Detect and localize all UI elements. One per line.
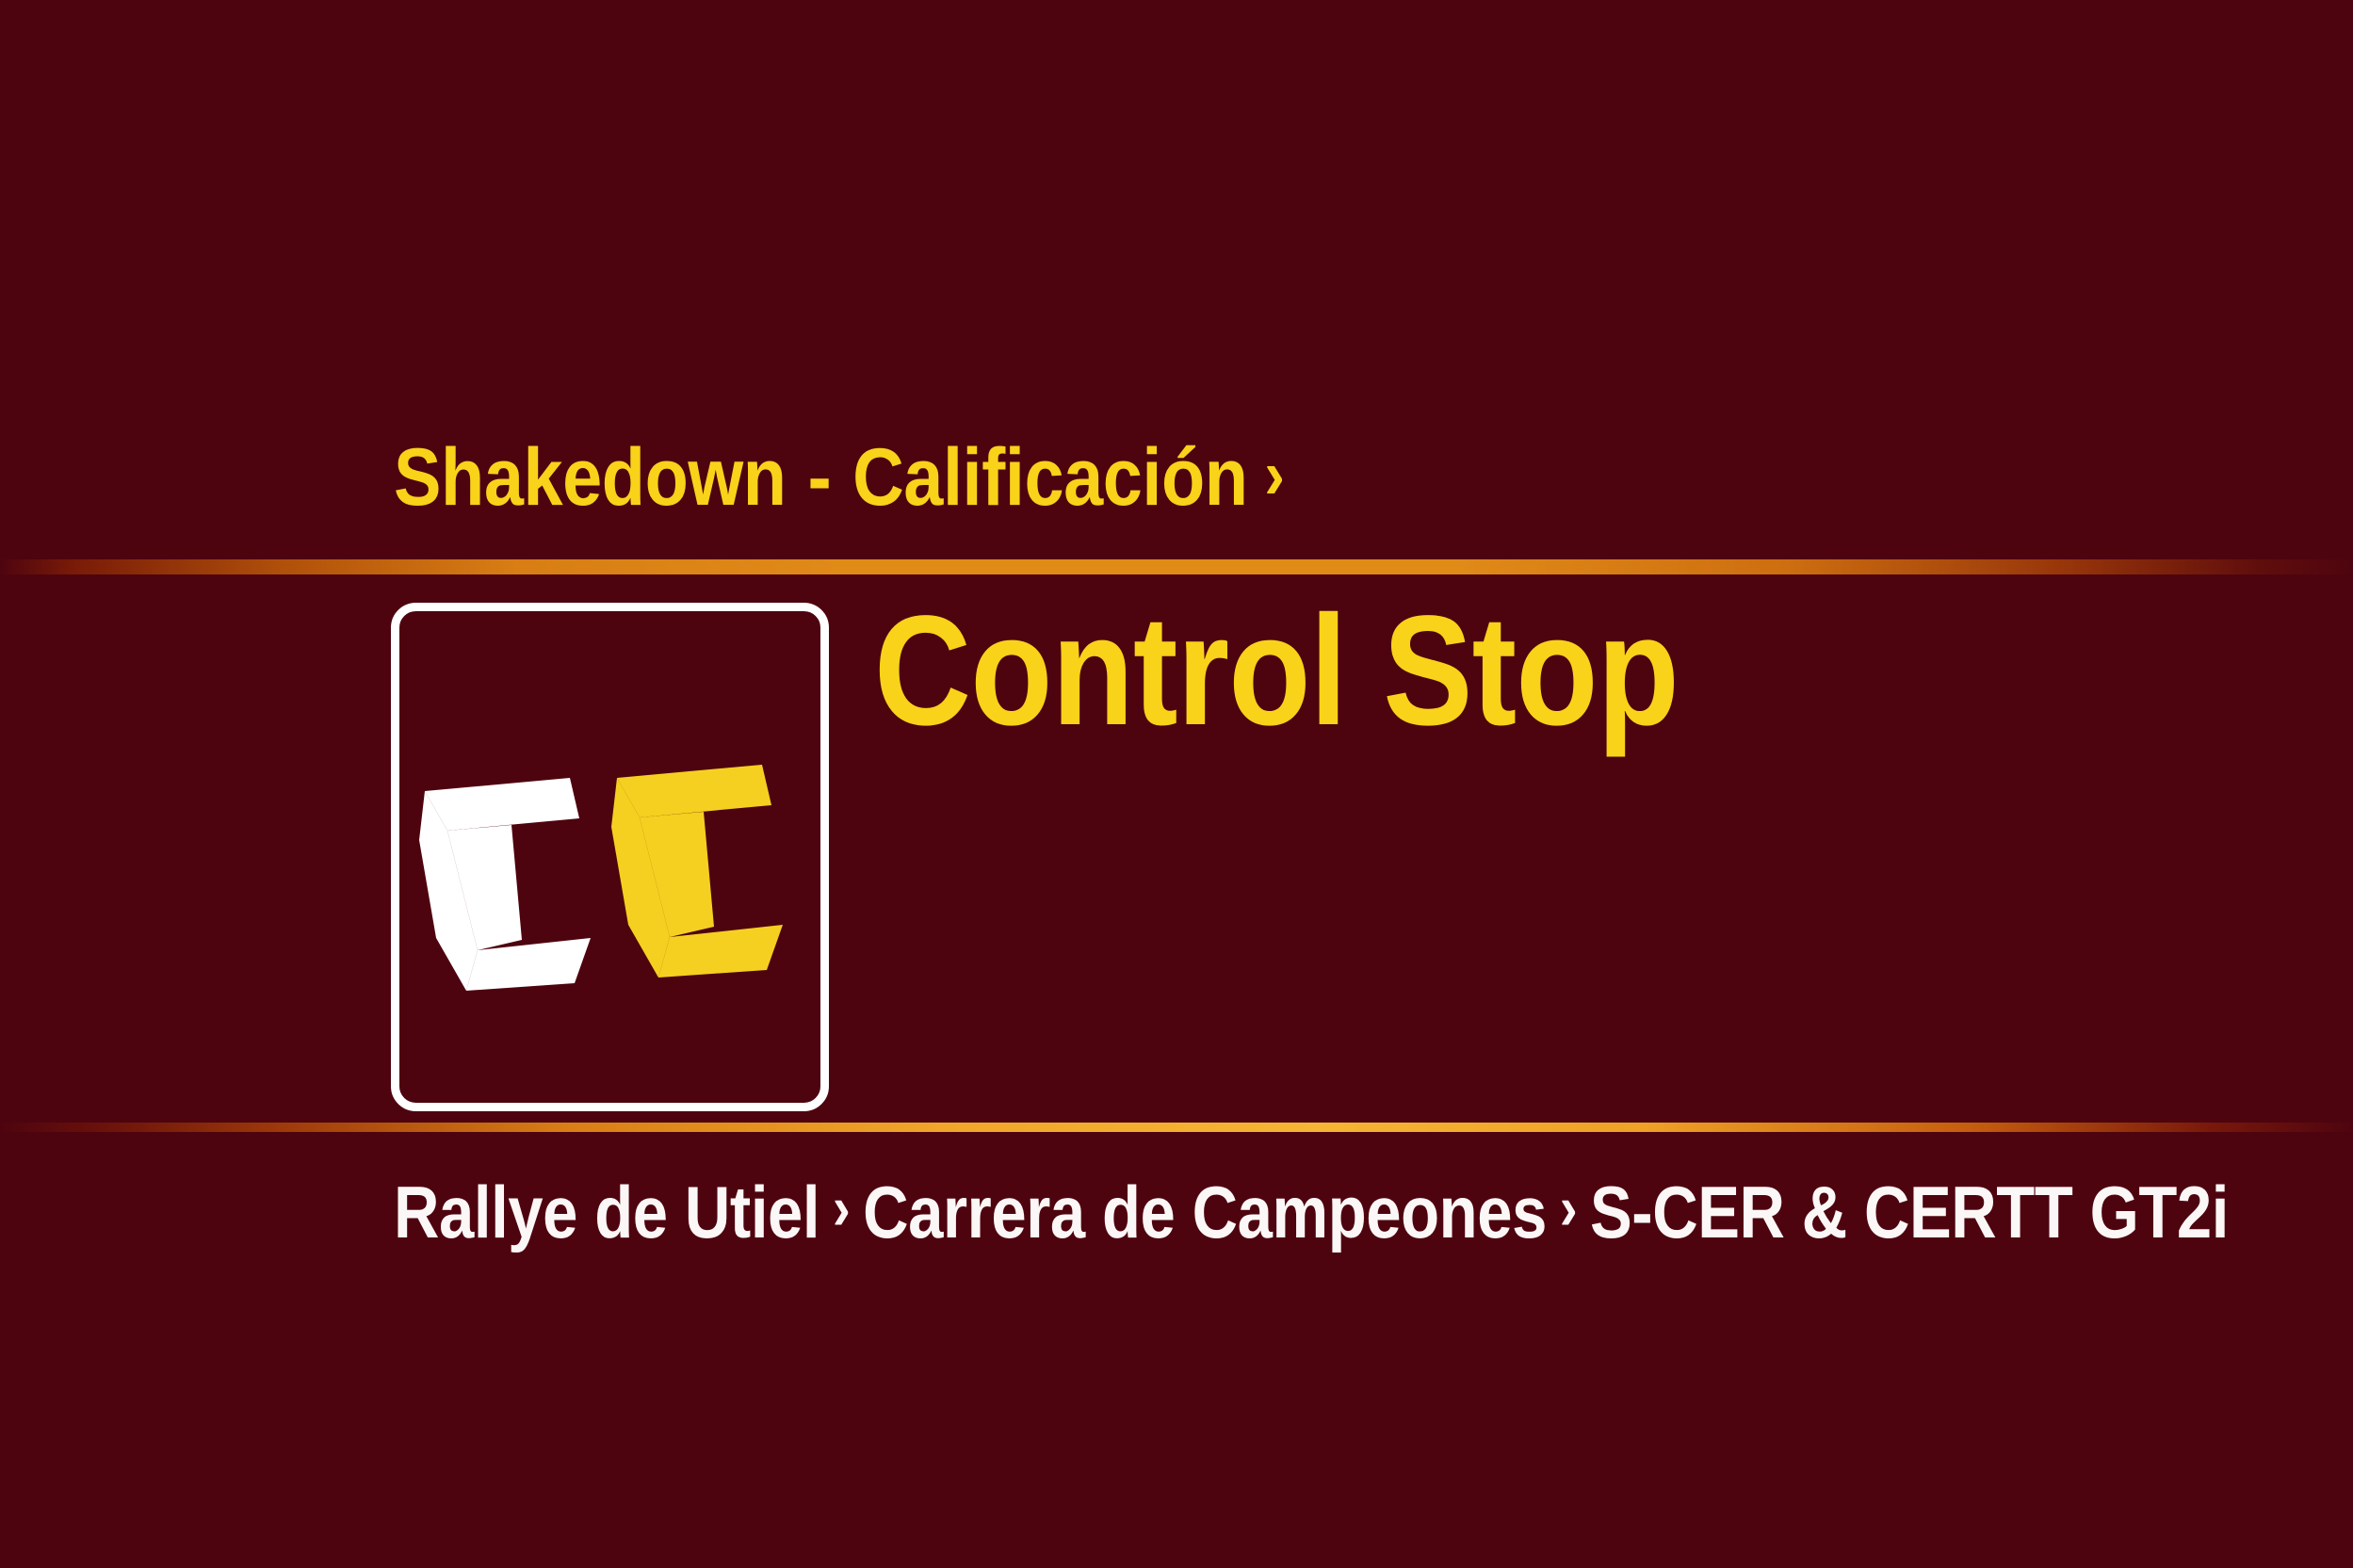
stage-label: Shakedown — [394, 431, 787, 525]
breadcrumb-separator-icon: › — [819, 1172, 863, 1243]
logo-glyph-left — [419, 778, 591, 991]
breadcrumb: Rallye de Utiel › Carrera de Campeones ›… — [394, 1160, 2229, 1264]
page-title: Control Stop — [874, 582, 1679, 761]
breadcrumb-item-event: Rallye de Utiel — [394, 1170, 819, 1255]
session-label: Calificación — [852, 431, 1247, 525]
page-title-text: Control Stop — [874, 582, 1679, 761]
breadcrumb-separator-icon: › — [1547, 1172, 1590, 1243]
logo-glyph-right — [611, 765, 783, 978]
breadcrumb-item-championship: S-CER & CERTT GT2i — [1590, 1170, 2229, 1255]
chevron-right-icon: › — [1248, 434, 1285, 514]
card-content: Shakedown - Calificación › — [0, 0, 2353, 1568]
divider-top — [0, 559, 2353, 574]
eyebrow-separator: - — [787, 431, 853, 525]
divider-bottom — [0, 1123, 2353, 1132]
breadcrumb-item-race: Carrera de Campeones — [863, 1170, 1547, 1255]
stage-session-eyebrow: Shakedown - Calificación › — [394, 421, 1284, 534]
control-stop-logo — [391, 603, 829, 1111]
title-card: Shakedown - Calificación › — [0, 0, 2353, 1568]
